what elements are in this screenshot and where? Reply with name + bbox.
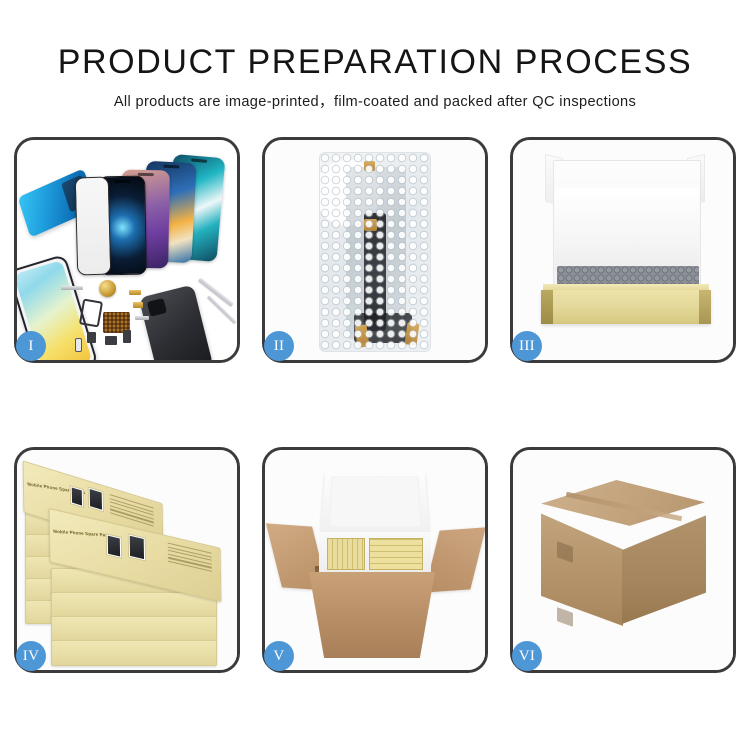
page-subtitle: All products are image-printed，film-coat…: [0, 82, 750, 111]
box-print-label: Mobile Phone Spare Parts: [53, 529, 112, 538]
white-foam-sheet-icon: [555, 188, 699, 272]
process-step-panel-3: III: [510, 137, 736, 363]
small-part-icon: [135, 316, 149, 320]
bubble-texture: [320, 153, 430, 351]
small-part-icon: [129, 290, 141, 295]
retail-box-stack: Mobile Phone Spare Parts Mobile Phone Sp…: [23, 476, 237, 664]
small-part-icon: [105, 336, 117, 345]
small-part-icon: [133, 302, 143, 308]
small-part-icon: [87, 332, 96, 343]
yellow-box-bundle-icon: [369, 538, 423, 570]
carton-front-icon: [309, 572, 435, 658]
box-product-photo: [128, 533, 146, 561]
process-step-panel-4: Mobile Phone Spare Parts Mobile Phone Sp…: [14, 447, 240, 673]
step-badge-6: VI: [512, 641, 542, 671]
step-4-image: Mobile Phone Spare Parts Mobile Phone Sp…: [17, 450, 237, 670]
product-preparation-process-page: PRODUCT PREPARATION PROCESS All products…: [0, 0, 750, 750]
sim-tray-icon: [75, 338, 82, 352]
carton-flap-right-icon: [424, 527, 485, 592]
step-badge-2: II: [264, 331, 294, 361]
box-spec-lines: [168, 543, 212, 575]
stacked-box-side: [51, 592, 217, 618]
small-part-icon: [123, 330, 131, 343]
header: PRODUCT PREPARATION PROCESS All products…: [0, 0, 750, 111]
process-step-panel-5: V: [262, 447, 488, 673]
box-product-photo: [70, 485, 84, 508]
process-step-panel-1: I: [14, 137, 240, 363]
notch-icon: [191, 158, 207, 162]
process-step-grid: I II: [14, 137, 736, 687]
step-6-image: [513, 450, 733, 670]
carton-tape-icon: [557, 607, 573, 627]
carton-left-face-icon: [541, 510, 623, 626]
notch-icon: [114, 180, 130, 183]
stacked-box-side: [51, 616, 217, 642]
foam-lid-icon: [321, 470, 430, 535]
step-badge-1: I: [16, 331, 46, 361]
notch-icon: [163, 165, 179, 169]
box-product-photo: [88, 486, 104, 512]
stacked-box-side: [51, 640, 217, 666]
step-2-image: [265, 140, 485, 360]
process-step-panel-2: II: [262, 137, 488, 363]
speaker-module-icon: [99, 280, 116, 297]
yellow-box-bundle-icon: [327, 538, 365, 570]
box-product-photo: [106, 533, 122, 559]
step-badge-4: IV: [16, 641, 46, 671]
flex-cable-icon: [79, 298, 103, 327]
carton-right-face-icon: [622, 512, 706, 624]
screen-protector-glass-icon: [75, 177, 112, 276]
step-5-image: [265, 450, 485, 670]
page-title: PRODUCT PREPARATION PROCESS: [0, 0, 750, 82]
bubble-wrap-bag-icon: [319, 152, 431, 352]
step-3-image: [513, 140, 733, 360]
phone-back-housing-icon: [139, 284, 214, 360]
process-step-panel-6: VI: [510, 447, 736, 673]
kraft-box-front-icon: [541, 290, 711, 324]
step-1-image: [17, 140, 237, 360]
step-badge-3: III: [512, 331, 542, 361]
step-badge-5: V: [264, 641, 294, 671]
small-part-icon: [61, 286, 83, 290]
